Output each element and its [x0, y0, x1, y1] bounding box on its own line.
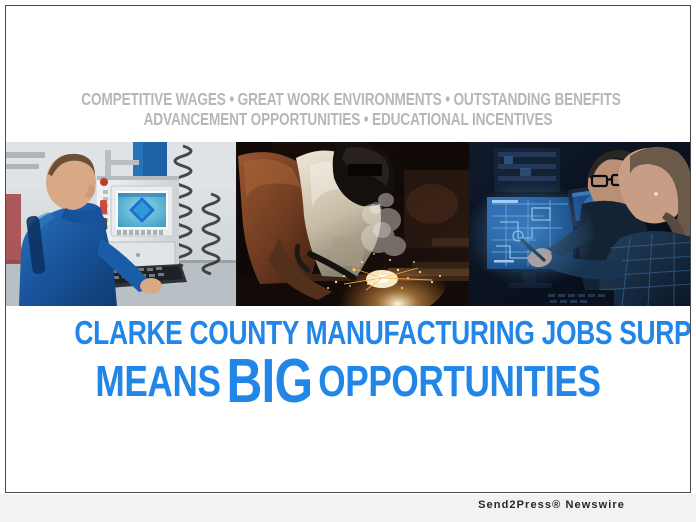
headline-line-2: MEANS BIG OPPORTUNITIES [74, 352, 621, 416]
graphic-card: COMPETITIVE WAGES • GREAT WORK ENVIRONME… [5, 5, 691, 493]
headline-means: MEANS [95, 357, 220, 406]
newswire-credit: Send2Press® Newswire [478, 499, 625, 511]
photo-strip [5, 142, 691, 306]
photo-welder [236, 142, 470, 306]
tagline-line-2: ADVANCEMENT OPPORTUNITIES • EDUCATIONAL … [81, 109, 615, 129]
headline-opportunities: OPPORTUNITIES [318, 357, 600, 406]
photo-cnc-operator [5, 142, 236, 306]
headline-block: CLARKE COUNTY MANUFACTURING JOBS SURPLUS… [6, 316, 690, 416]
headline-line-1: CLARKE COUNTY MANUFACTURING JOBS SURPLUS [74, 316, 621, 350]
photo-engineers [470, 142, 691, 306]
press-release-graphic: COMPETITIVE WAGES • GREAT WORK ENVIRONME… [0, 0, 696, 522]
headline-big: BIG [227, 347, 313, 416]
photo-cnc-operator-image [5, 142, 236, 306]
photo-welder-image [237, 142, 469, 306]
tagline-block: COMPETITIVE WAGES • GREAT WORK ENVIRONME… [6, 89, 690, 129]
photo-engineers-image [470, 142, 691, 306]
tagline-line-1: COMPETITIVE WAGES • GREAT WORK ENVIRONME… [81, 89, 615, 109]
